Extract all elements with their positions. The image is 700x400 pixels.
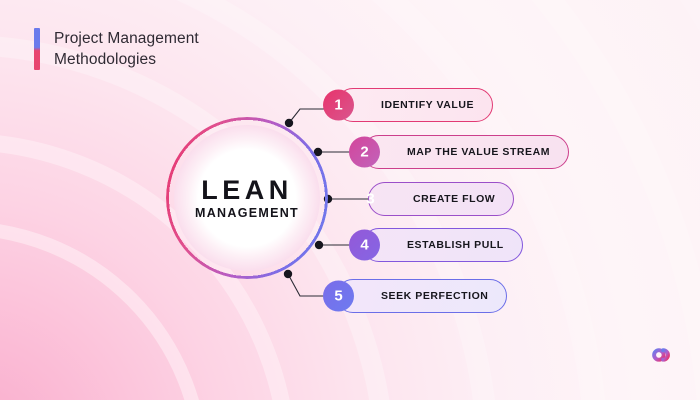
step-item-1[interactable]: 1 IDENTIFY VALUE bbox=[336, 88, 493, 122]
header: Project Management Methodologies bbox=[34, 28, 199, 70]
step-label-5: SEEK PERFECTION bbox=[381, 290, 488, 302]
step-label-2: MAP THE VALUE STREAM bbox=[407, 146, 550, 158]
step-item-5[interactable]: 5 SEEK PERFECTION bbox=[336, 279, 507, 313]
step-label-1: IDENTIFY VALUE bbox=[381, 99, 474, 111]
step-badge-3: 3 bbox=[355, 184, 386, 215]
step-label-3: CREATE FLOW bbox=[413, 193, 495, 205]
step-item-3[interactable]: 3 CREATE FLOW bbox=[368, 182, 514, 216]
step-badge-4: 4 bbox=[349, 230, 380, 261]
brand-logo-icon bbox=[644, 340, 678, 374]
step-badge-2: 2 bbox=[349, 137, 380, 168]
infographic-canvas: Project Management Methodologies LEAN MA… bbox=[0, 0, 700, 400]
lean-management-hub: LEAN MANAGEMENT bbox=[166, 117, 328, 279]
step-badge-5: 5 bbox=[323, 281, 354, 312]
hub-title: LEAN bbox=[201, 177, 293, 204]
step-item-4[interactable]: 4 ESTABLISH PULL bbox=[362, 228, 523, 262]
step-label-4: ESTABLISH PULL bbox=[407, 239, 504, 251]
hub-label-group: LEAN MANAGEMENT bbox=[166, 117, 328, 279]
hub-subtitle: MANAGEMENT bbox=[195, 207, 299, 220]
page-title: Project Management Methodologies bbox=[54, 28, 199, 70]
title-accent-bar bbox=[34, 28, 40, 70]
step-item-2[interactable]: 2 MAP THE VALUE STREAM bbox=[362, 135, 569, 169]
step-badge-1: 1 bbox=[323, 90, 354, 121]
